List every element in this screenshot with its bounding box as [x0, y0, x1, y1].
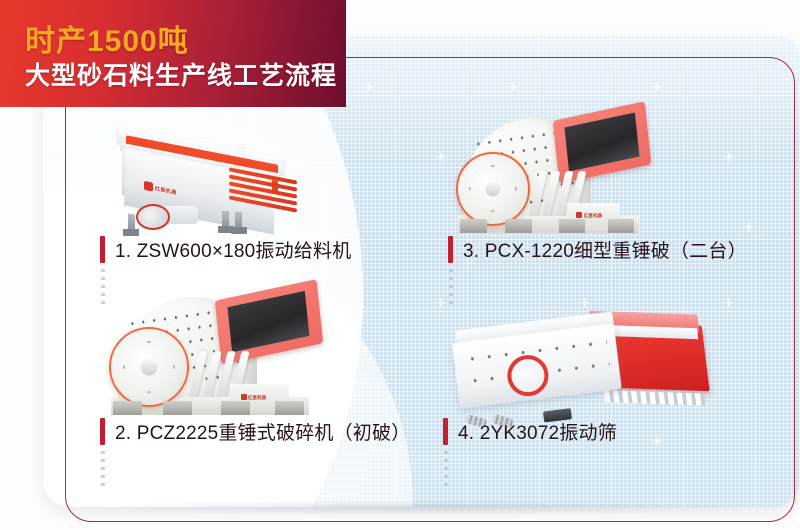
panel-shadow: [70, 500, 770, 516]
brand-mark-icon: [144, 181, 153, 192]
crusher-flywheel: [109, 327, 190, 408]
poster-stage: 红星机器 红星机器: [0, 0, 800, 530]
banner-title-line1: 时产1500吨: [25, 16, 189, 60]
equipment-image-vibrating-feeder: 红星机器: [104, 132, 304, 237]
crusher-foot: [275, 401, 304, 415]
feeder-leg: [222, 211, 229, 227]
item-label-4: 4. 2YK3072振动筛: [443, 418, 617, 445]
crusher-foot: [505, 219, 532, 233]
crusher-foot: [608, 219, 635, 233]
crusher-hopper-opening: [227, 290, 309, 351]
item-label-3: 3. PCX-1220细型重锤破（二台）: [448, 236, 747, 263]
brand-text: 红星机器: [584, 213, 602, 218]
label-marker-bar: [100, 418, 105, 445]
item-label-text: 1. ZSW600×180振动给料机: [115, 236, 351, 263]
feeder-leg: [235, 212, 242, 228]
feeder-foot: [231, 227, 247, 234]
screen-assembly: [444, 287, 711, 435]
flywheel-hub: [140, 359, 157, 376]
crusher-foot: [113, 401, 142, 415]
feeder-foot: [123, 229, 139, 236]
feeder-exciter-wheel: [136, 204, 170, 230]
title-banner: 时产1500吨 大型砂石料生产线工艺流程: [0, 0, 346, 107]
crusher-hopper-opening: [564, 112, 639, 171]
brand-mark-icon: [576, 212, 582, 218]
equipment-image-fine-hammer-crusher: 红星机器: [452, 108, 657, 233]
item-label-text: 4. 2YK3072振动筛: [458, 418, 617, 445]
crusher-foot: [221, 401, 250, 415]
label-marker-bar: [443, 418, 448, 445]
crusher-assembly: 红星机器: [104, 287, 329, 415]
crusher-assembly: 红星机器: [452, 108, 657, 233]
screen-deck-mesh-lower: [604, 390, 706, 405]
item-label-1: 1. ZSW600×180振动给料机: [100, 236, 351, 263]
crusher-flywheel: [456, 152, 530, 226]
brand-text: 红星机器: [248, 395, 266, 400]
crusher-foot: [163, 401, 192, 415]
equipment-image-heavy-hammer-crusher: 红星机器: [104, 287, 329, 415]
label-marker-bar: [448, 236, 453, 263]
item-label-text: 3. PCX-1220细型重锤破（二台）: [463, 236, 747, 263]
crusher-foot: [559, 219, 586, 233]
item-label-2: 2. PCZ2225重锤式破碎机（初破）: [100, 418, 410, 445]
brand-mark-icon: [241, 394, 247, 400]
banner-title-line2: 大型砂石料生产线工艺流程: [25, 56, 337, 92]
label-marker-bar: [100, 236, 105, 263]
item-label-text: 2. PCZ2225重锤式破碎机（初破）: [115, 418, 410, 445]
crusher-brand-logo: 红星机器: [241, 394, 267, 401]
equipment-image-vibrating-screen: [450, 302, 705, 420]
crusher-foot: [460, 219, 487, 233]
